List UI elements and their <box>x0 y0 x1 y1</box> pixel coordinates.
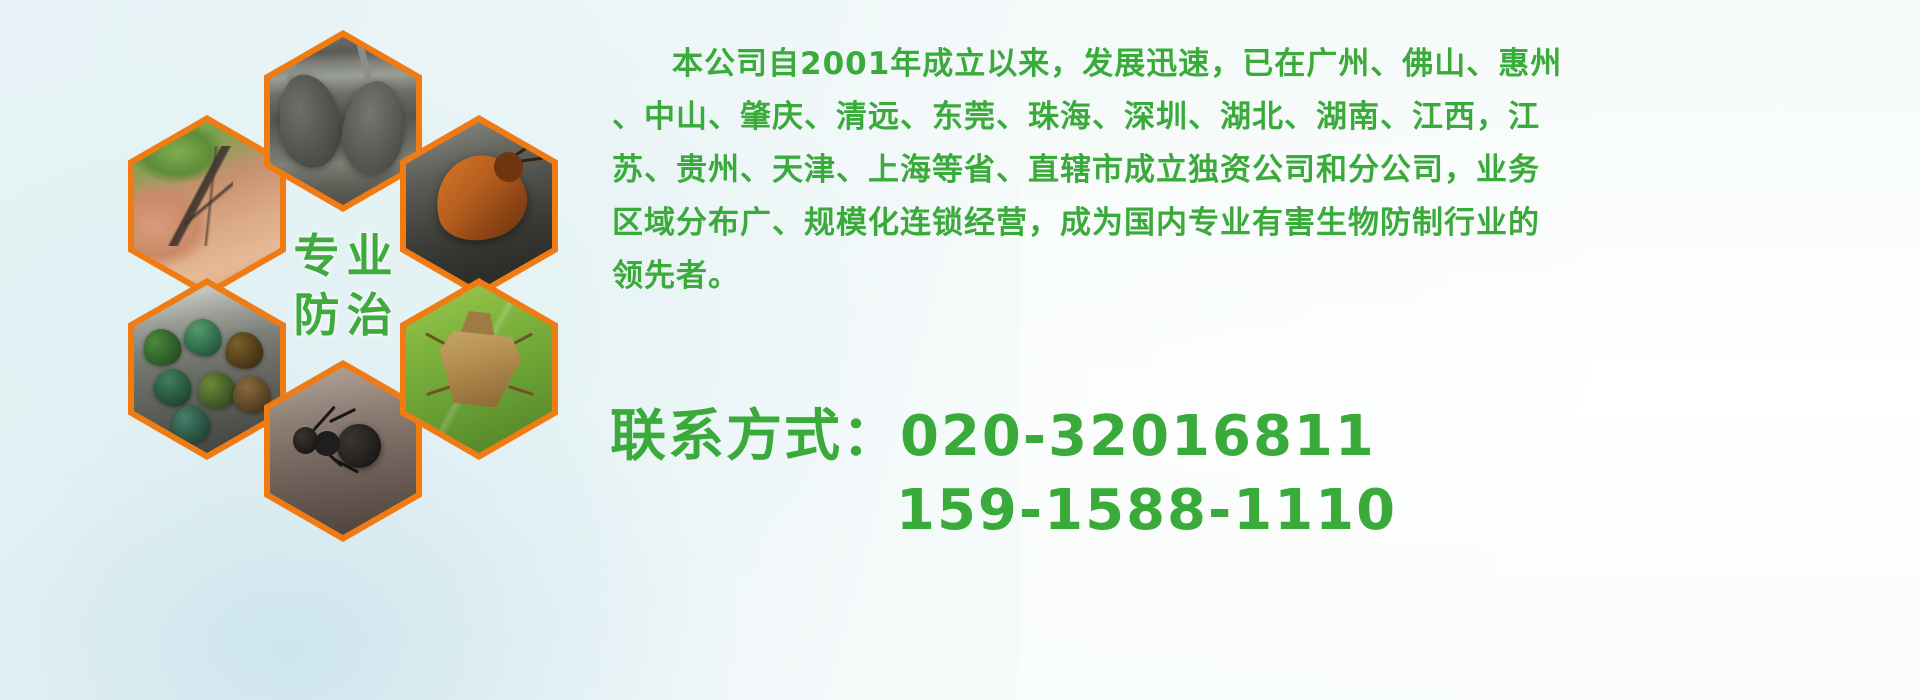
contact-phone-primary[interactable]: 联系方式：020-32016811 <box>610 400 1397 474</box>
company-description: 本公司自2001年成立以来，发展迅速，已在广州、佛山、惠州 、中山、肇庆、清远、… <box>612 38 1912 303</box>
hexagon-photo-cluster: 专业 防治 <box>88 10 588 570</box>
logo-text-line2: 防治 <box>287 286 400 345</box>
logo-text-line1: 专业 <box>287 227 400 286</box>
logo-text: 专业 防治 <box>264 195 422 377</box>
description-line-5: 领先者。 <box>612 250 1912 303</box>
mosquito-photo <box>128 115 286 297</box>
contact-info: 联系方式：020-32016811 159-1588-1110 <box>610 400 1397 548</box>
description-line-1: 本公司自2001年成立以来，发展迅速，已在广州、佛山、惠州 <box>612 38 1912 91</box>
ant-photo <box>264 360 422 542</box>
promotional-banner: 专业 防治 本公司自2001年成立以来，发展迅速，已在广州、佛山、惠州 、中山、… <box>0 0 1920 700</box>
description-line-2: 、中山、肇庆、清远、东莞、珠海、深圳、湖北、湖南、江西，江 <box>612 91 1912 144</box>
description-line-3: 苏、贵州、天津、上海等省、直辖市成立独资公司和分公司，业务 <box>612 144 1912 197</box>
cockroach-photo <box>400 115 558 297</box>
rat-photo <box>264 30 422 212</box>
stinkbug-photo <box>400 278 558 460</box>
flies-photo <box>128 278 286 460</box>
description-line-4: 区域分布广、规模化连锁经营，成为国内专业有害生物防制行业的 <box>612 197 1912 250</box>
contact-phone-secondary[interactable]: 159-1588-1110 <box>610 474 1397 548</box>
